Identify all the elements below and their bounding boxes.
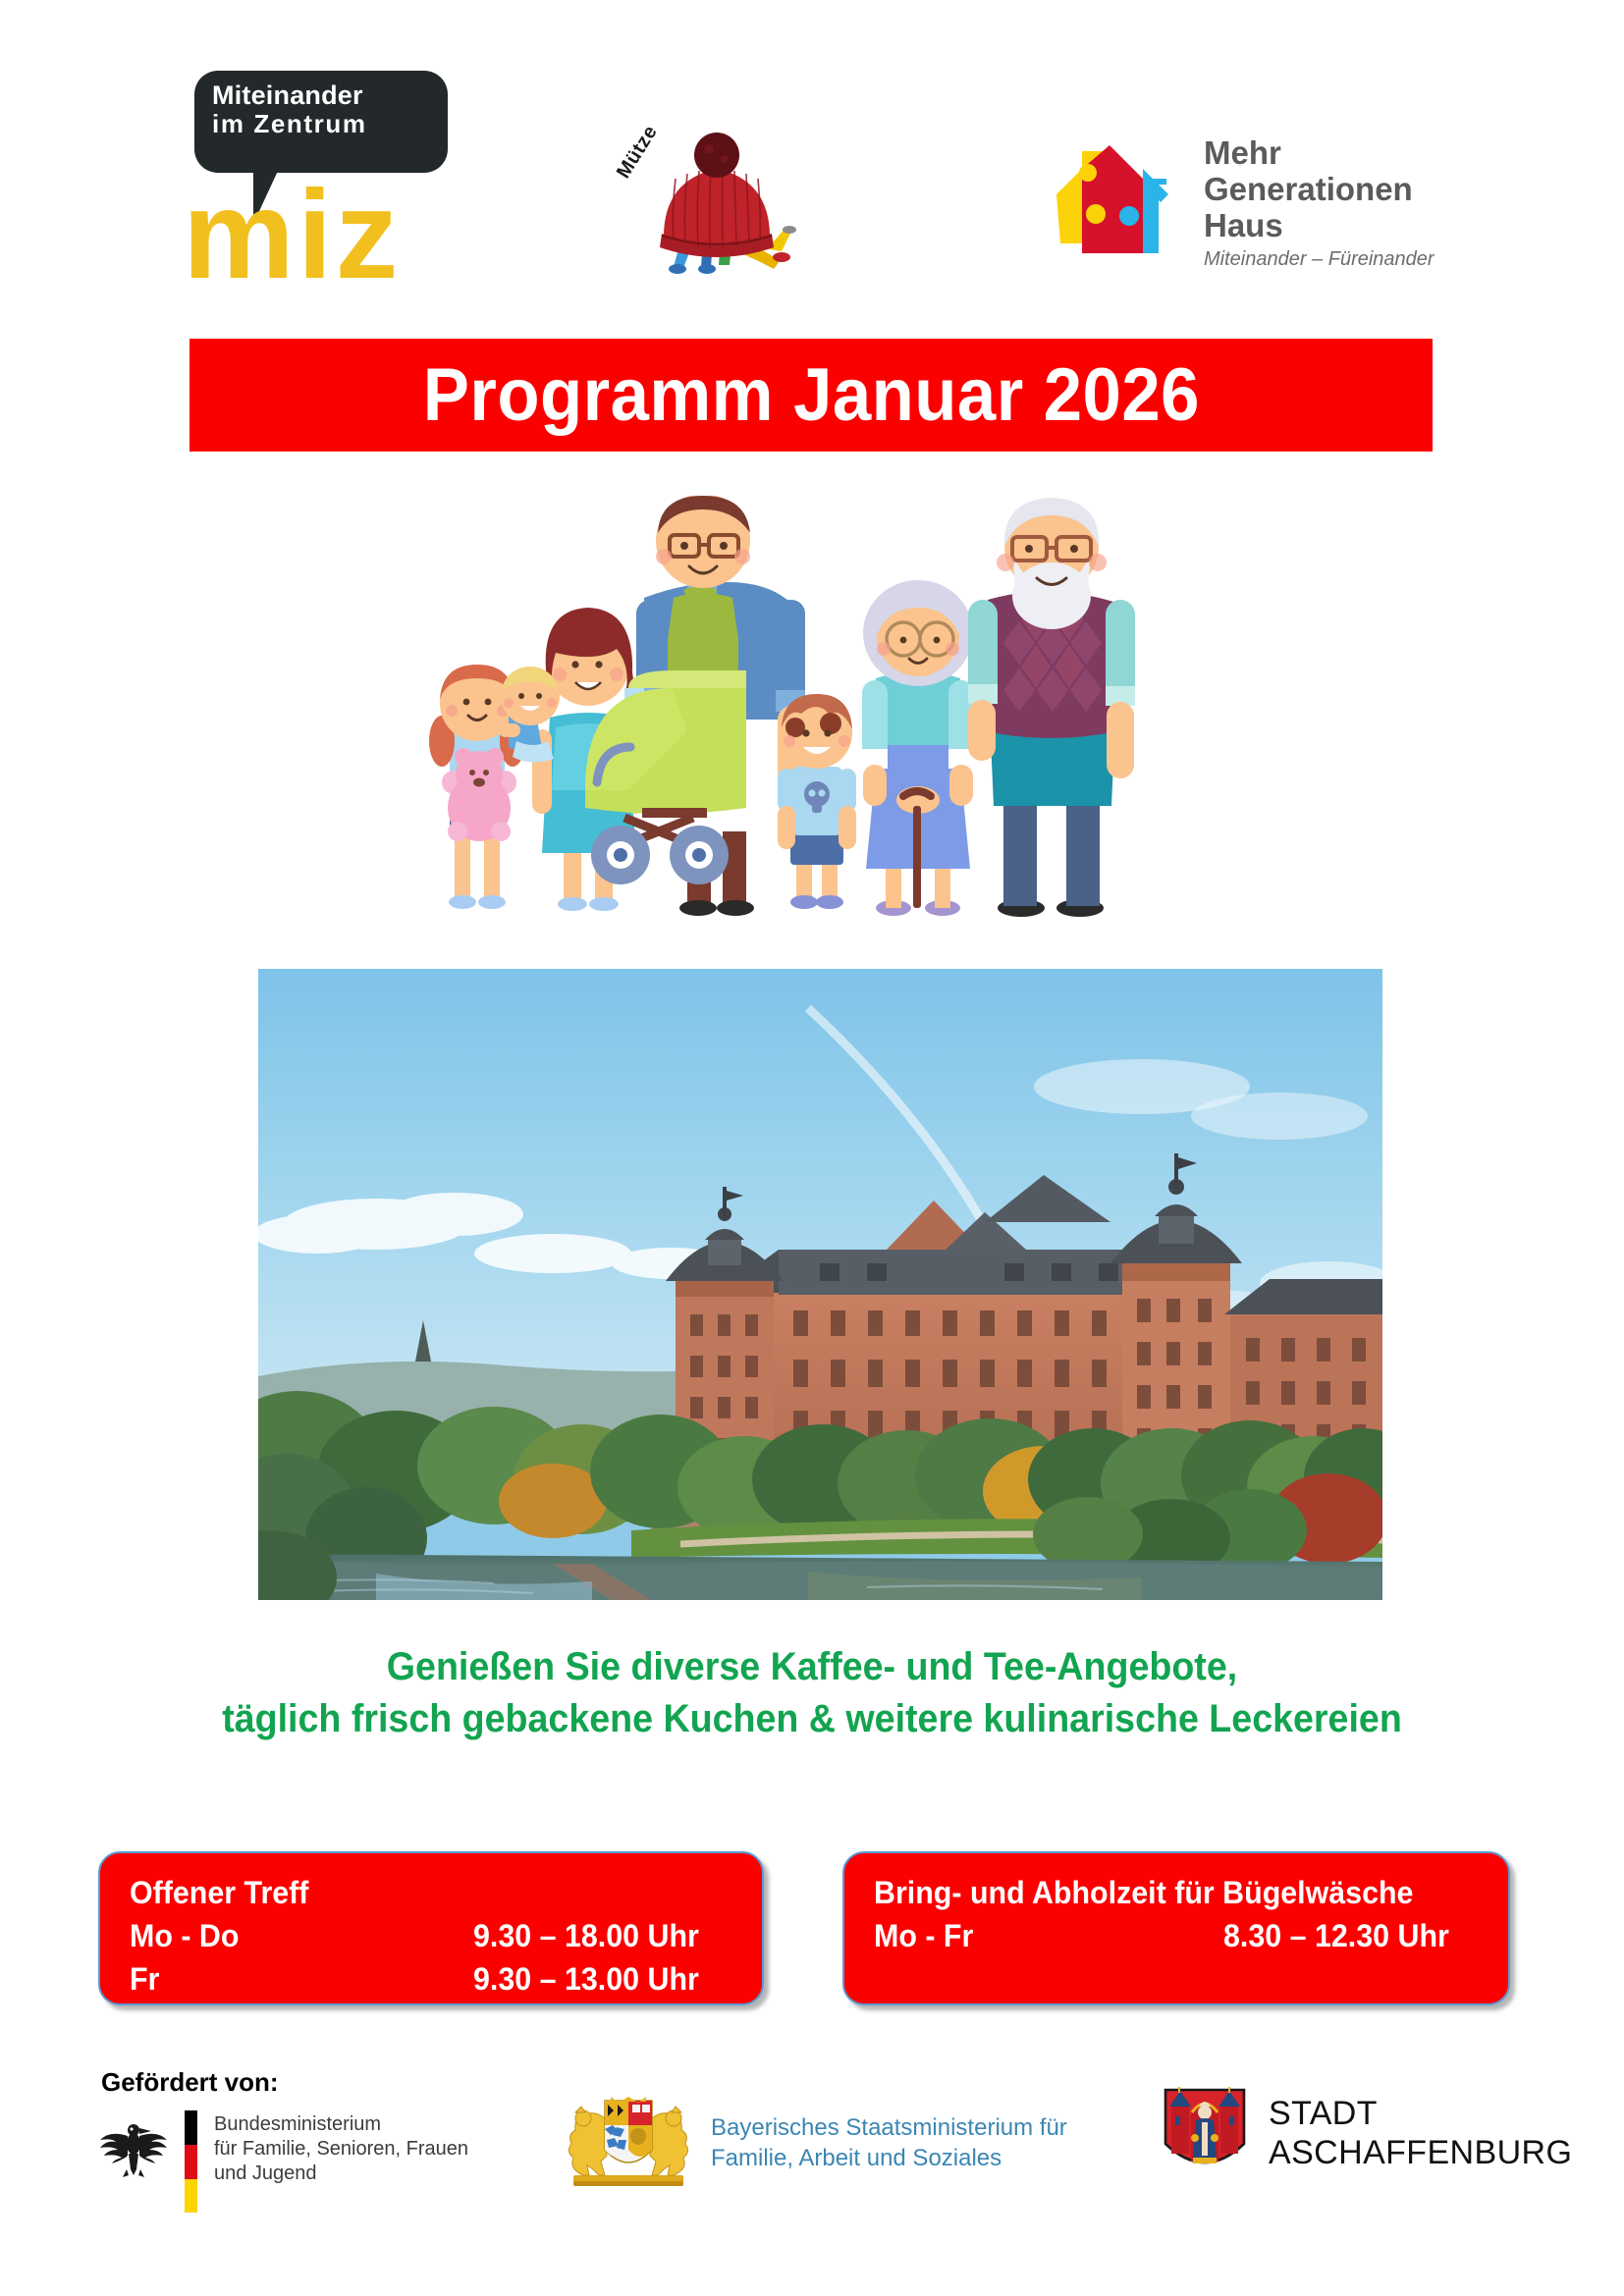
- stadt-aschaffenburg-text: STADT ASCHAFFENBURG: [1269, 2095, 1572, 2173]
- stadt-line2: ASCHAFFENBURG: [1269, 2134, 1572, 2173]
- miz-wordmark: miz: [183, 173, 401, 298]
- mehrgenerationenhaus-logo: Mehr Generationen Haus Miteinander – Für…: [1053, 137, 1475, 285]
- info-row-time: 9.30 – 13.00 Uhr: [473, 1957, 699, 2001]
- figure-grandmother: [862, 580, 974, 916]
- mgh-tagline: Miteinander – Füreinander: [1204, 248, 1435, 271]
- aschaffenburg-coat-of-arms-icon: [1163, 2087, 1247, 2181]
- footer-sponsors: Gefördert von: Bundesministerium für Fam: [0, 2061, 1624, 2296]
- funded-by-label: Gefördert von:: [101, 2067, 279, 2098]
- mgh-wordmark: Mehr Generationen Haus Miteinander – Für…: [1204, 135, 1435, 271]
- bmfsfj-line2: für Familie, Senioren, Frauen: [214, 2137, 468, 2162]
- schloss-johannisburg-image: [258, 969, 1382, 1600]
- figure-boy: [778, 694, 856, 909]
- miz-logo: Miteinander im Zentrum miz: [183, 71, 458, 326]
- info-box-offener-treff: Offener Treff Mo - Do 9.30 – 18.00 Uhr F…: [98, 1851, 764, 2005]
- bavaria-coat-of-arms-icon: [560, 2097, 697, 2189]
- multi-generation-family-graphic: [393, 496, 1257, 952]
- bayern-ministry-text: Bayerisches Staatsministerium für Famili…: [711, 2112, 1067, 2173]
- info-row-day: Mo - Fr: [874, 1914, 973, 1957]
- info-row-time: 8.30 – 12.30 Uhr: [1223, 1914, 1449, 1957]
- info-row-time: 9.30 – 18.00 Uhr: [473, 1914, 699, 1957]
- tagline-line-2: täglich frisch gebackene Kuchen & weiter…: [49, 1693, 1576, 1745]
- program-title-banner: Programm Januar 2026: [189, 339, 1433, 452]
- sponsor-bundesministerium: Bundesministerium für Familie, Senioren,…: [98, 2110, 520, 2218]
- mgh-line3: Haus: [1204, 208, 1435, 244]
- stadt-line1: STADT: [1269, 2095, 1572, 2134]
- miz-bubble-line1: Miteinander: [212, 81, 434, 109]
- header-logo-row: Miteinander im Zentrum miz Mütze: [0, 0, 1624, 334]
- sponsor-bayerisches-staatsministerium: Bayerisches Staatsministerium für Famili…: [560, 2097, 1110, 2215]
- miz-bubble-line2: im Zentrum: [212, 109, 434, 139]
- info-row: Mo - Fr 8.30 – 12.30 Uhr: [874, 1914, 1483, 1957]
- page-title: Programm Januar 2026: [422, 352, 1199, 438]
- pram: [585, 670, 746, 884]
- miz-speech-bubble: Miteinander im Zentrum: [194, 71, 448, 173]
- bundesadler-eagle-icon: [98, 2114, 169, 2179]
- info-box-title: Offener Treff: [130, 1871, 706, 1914]
- puzzle-house-icon: [1053, 139, 1170, 261]
- sponsor-stadt-aschaffenburg: STADT ASCHAFFENBURG: [1163, 2087, 1555, 2205]
- figure-grandfather: [968, 498, 1135, 917]
- info-box-buegelwaesche: Bring- und Abholzeit für Bügelwäsche Mo …: [842, 1851, 1510, 2005]
- info-row-day: Fr: [130, 1957, 159, 2001]
- family-illustration: [393, 496, 1257, 952]
- info-row: Fr 9.30 – 13.00 Uhr: [130, 1957, 736, 2001]
- tagline-line-1: Genießen Sie diverse Kaffee- und Tee-Ang…: [49, 1641, 1576, 1693]
- info-row: Mo - Do 9.30 – 18.00 Uhr: [130, 1914, 736, 1957]
- info-row-day: Mo - Do: [130, 1914, 239, 1957]
- bayern-line2: Familie, Arbeit und Soziales: [711, 2143, 1067, 2173]
- info-box-title: Bring- und Abholzeit für Bügelwäsche: [874, 1871, 1452, 1914]
- bmfsfj-line1: Bundesministerium: [214, 2112, 468, 2137]
- opening-hours-boxes: Offener Treff Mo - Do 9.30 – 18.00 Uhr F…: [0, 1851, 1624, 2028]
- bayern-line1: Bayerisches Staatsministerium für: [711, 2112, 1067, 2143]
- mutze-logo: Mütze: [619, 108, 815, 275]
- mgh-line2: Generationen: [1204, 172, 1435, 208]
- mgh-line1: Mehr: [1204, 135, 1435, 172]
- castle-photo: [258, 969, 1382, 1600]
- bundesministerium-text: Bundesministerium für Familie, Senioren,…: [214, 2112, 468, 2187]
- bmfsfj-line3: und Jugend: [214, 2162, 468, 2186]
- german-flag-bar-icon: [185, 2110, 197, 2213]
- tagline-block: Genießen Sie diverse Kaffee- und Tee-Ang…: [0, 1641, 1624, 1745]
